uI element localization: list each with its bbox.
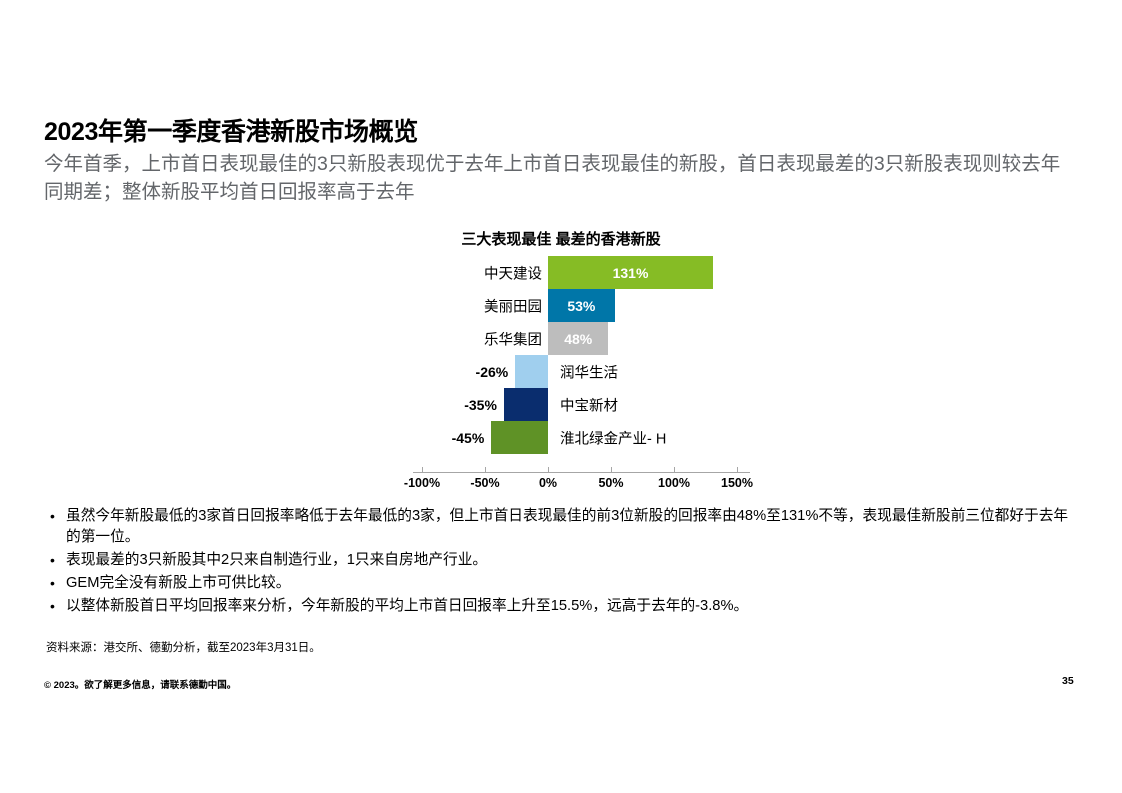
bar-row: 乐华集团48% xyxy=(400,322,750,355)
bar-category-label: 美丽田园 xyxy=(484,295,542,316)
axis-tick-label: 50% xyxy=(598,476,623,490)
axis-tick-label: -50% xyxy=(470,476,499,490)
bullet-list: 虽然今年新股最低的3家首日回报率略低于去年最低的3家，但上市首日表现最佳的前3位… xyxy=(44,506,1079,619)
page-subtitle: 今年首季，上市首日表现最佳的3只新股表现优于去年上市首日表现最佳的新股，首日表现… xyxy=(44,150,1079,206)
bullet-item: 表现最差的3只新股其中2只来自制造行业，1只来自房地产行业。 xyxy=(44,550,1079,571)
bar-category-label: 润华生活 xyxy=(560,361,618,382)
bar-value-label: 53% xyxy=(567,298,595,314)
bar-row: 中天建设131% xyxy=(400,256,750,289)
bar-chart: 中天建设131%美丽田园53%乐华集团48%-26%润华生活-35%中宝新材-4… xyxy=(400,256,750,496)
axis-tick-label: -100% xyxy=(404,476,440,490)
bar-row: 美丽田园53% xyxy=(400,289,750,322)
bar-category-label: 中宝新材 xyxy=(560,394,618,415)
bar-value-label: -45% xyxy=(452,430,485,446)
bar-value-label: -35% xyxy=(464,397,497,413)
bullet-item: GEM完全没有新股上市可供比较。 xyxy=(44,573,1079,594)
axis-tick xyxy=(737,467,738,472)
bar[interactable] xyxy=(491,421,548,454)
page-number: 35 xyxy=(1062,675,1074,687)
axis-tick xyxy=(548,467,549,472)
bar-value-label: -26% xyxy=(476,364,509,380)
bar-category-label: 淮北绿金产业- H xyxy=(560,427,666,448)
slide: 2023年第一季度香港新股市场概览 今年首季，上市首日表现最佳的3只新股表现优于… xyxy=(0,0,1122,793)
bar-row: -45%淮北绿金产业- H xyxy=(400,421,750,454)
page-title: 2023年第一季度香港新股市场概览 xyxy=(44,112,418,148)
bullet-item: 以整体新股首日平均回报率来分析，今年新股的平均上市首日回报率上升至15.5%，远… xyxy=(44,596,1079,617)
axis-tick xyxy=(611,467,612,472)
bar-value-label: 48% xyxy=(564,331,592,347)
axis-tick-label: 100% xyxy=(658,476,690,490)
bar[interactable] xyxy=(504,388,548,421)
bar-category-label: 乐华集团 xyxy=(484,328,542,349)
axis-tick-label: 0% xyxy=(539,476,557,490)
bar-row: -35%中宝新材 xyxy=(400,388,750,421)
bullet-item: 虽然今年新股最低的3家首日回报率略低于去年最低的3家，但上市首日表现最佳的前3位… xyxy=(44,506,1079,547)
bar-category-label: 中天建设 xyxy=(484,262,542,283)
axis-tick-label: 150% xyxy=(721,476,753,490)
source-note: 资料来源：港交所、德勤分析，截至2023年3月31日。 xyxy=(46,639,321,655)
axis-tick xyxy=(674,467,675,472)
bar-row: -26%润华生活 xyxy=(400,355,750,388)
bar-value-label: 131% xyxy=(613,265,649,281)
axis-tick xyxy=(485,467,486,472)
chart-title: 三大表现最佳 最差的香港新股 xyxy=(0,228,1122,249)
copyright-note: © 2023。欲了解更多信息，请联系德勤中国。 xyxy=(44,677,236,691)
x-axis-line xyxy=(413,472,750,473)
axis-tick xyxy=(422,467,423,472)
bar[interactable] xyxy=(515,355,548,388)
